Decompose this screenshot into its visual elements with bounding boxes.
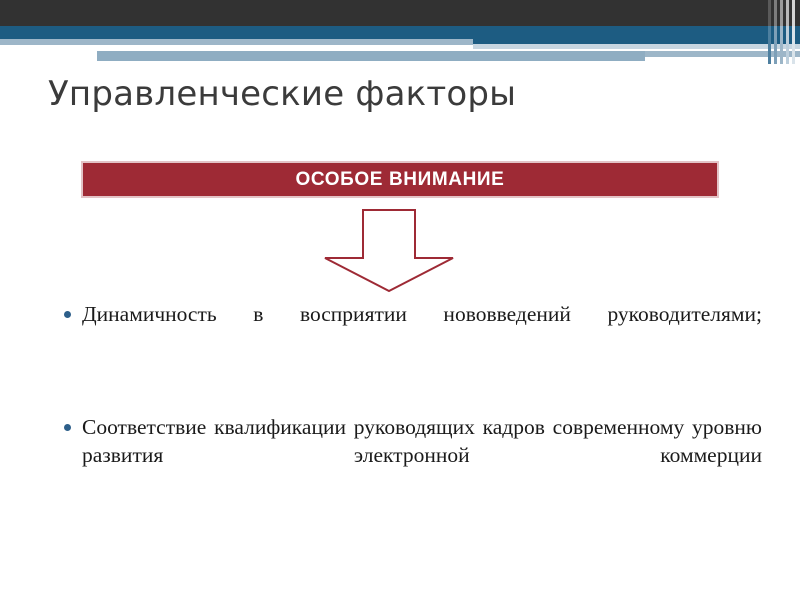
header-white-rule <box>97 49 800 51</box>
header-bottom-white <box>0 61 800 64</box>
slide-header-decoration <box>0 0 800 64</box>
presentation-slide: Управленческие факторы ОСОБОЕ ВНИМАНИЕ Д… <box>0 0 800 600</box>
attention-banner: ОСОБОЕ ВНИМАНИЕ <box>81 161 719 198</box>
header-blue-bar <box>0 26 800 39</box>
bullet-dot-icon <box>64 311 71 318</box>
list-item-text: Соответствие квалификации руководящих ка… <box>82 413 762 498</box>
list-item-text: Динамичность в восприятии нововведений р… <box>82 300 762 357</box>
header-stripe-lower-5 <box>792 26 795 64</box>
list-item: Соответствие квалификации руководящих ка… <box>62 413 762 498</box>
attention-banner-label: ОСОБОЕ ВНИМАНИЕ <box>296 169 505 191</box>
header-stripe-lower-4 <box>786 26 789 64</box>
header-dark-bar <box>0 0 800 26</box>
header-stripe-lower-1 <box>768 26 771 64</box>
arrow-down-icon <box>322 209 456 293</box>
header-stripe-lower-2 <box>774 26 777 64</box>
slide-title: Управленческие факторы <box>48 74 748 114</box>
header-stripe-lower-3 <box>780 26 783 64</box>
list-item: Динамичность в восприятии нововведений р… <box>62 300 762 357</box>
bullet-dot-icon <box>64 424 71 431</box>
bullet-list: Динамичность в восприятии нововведений р… <box>62 300 762 498</box>
